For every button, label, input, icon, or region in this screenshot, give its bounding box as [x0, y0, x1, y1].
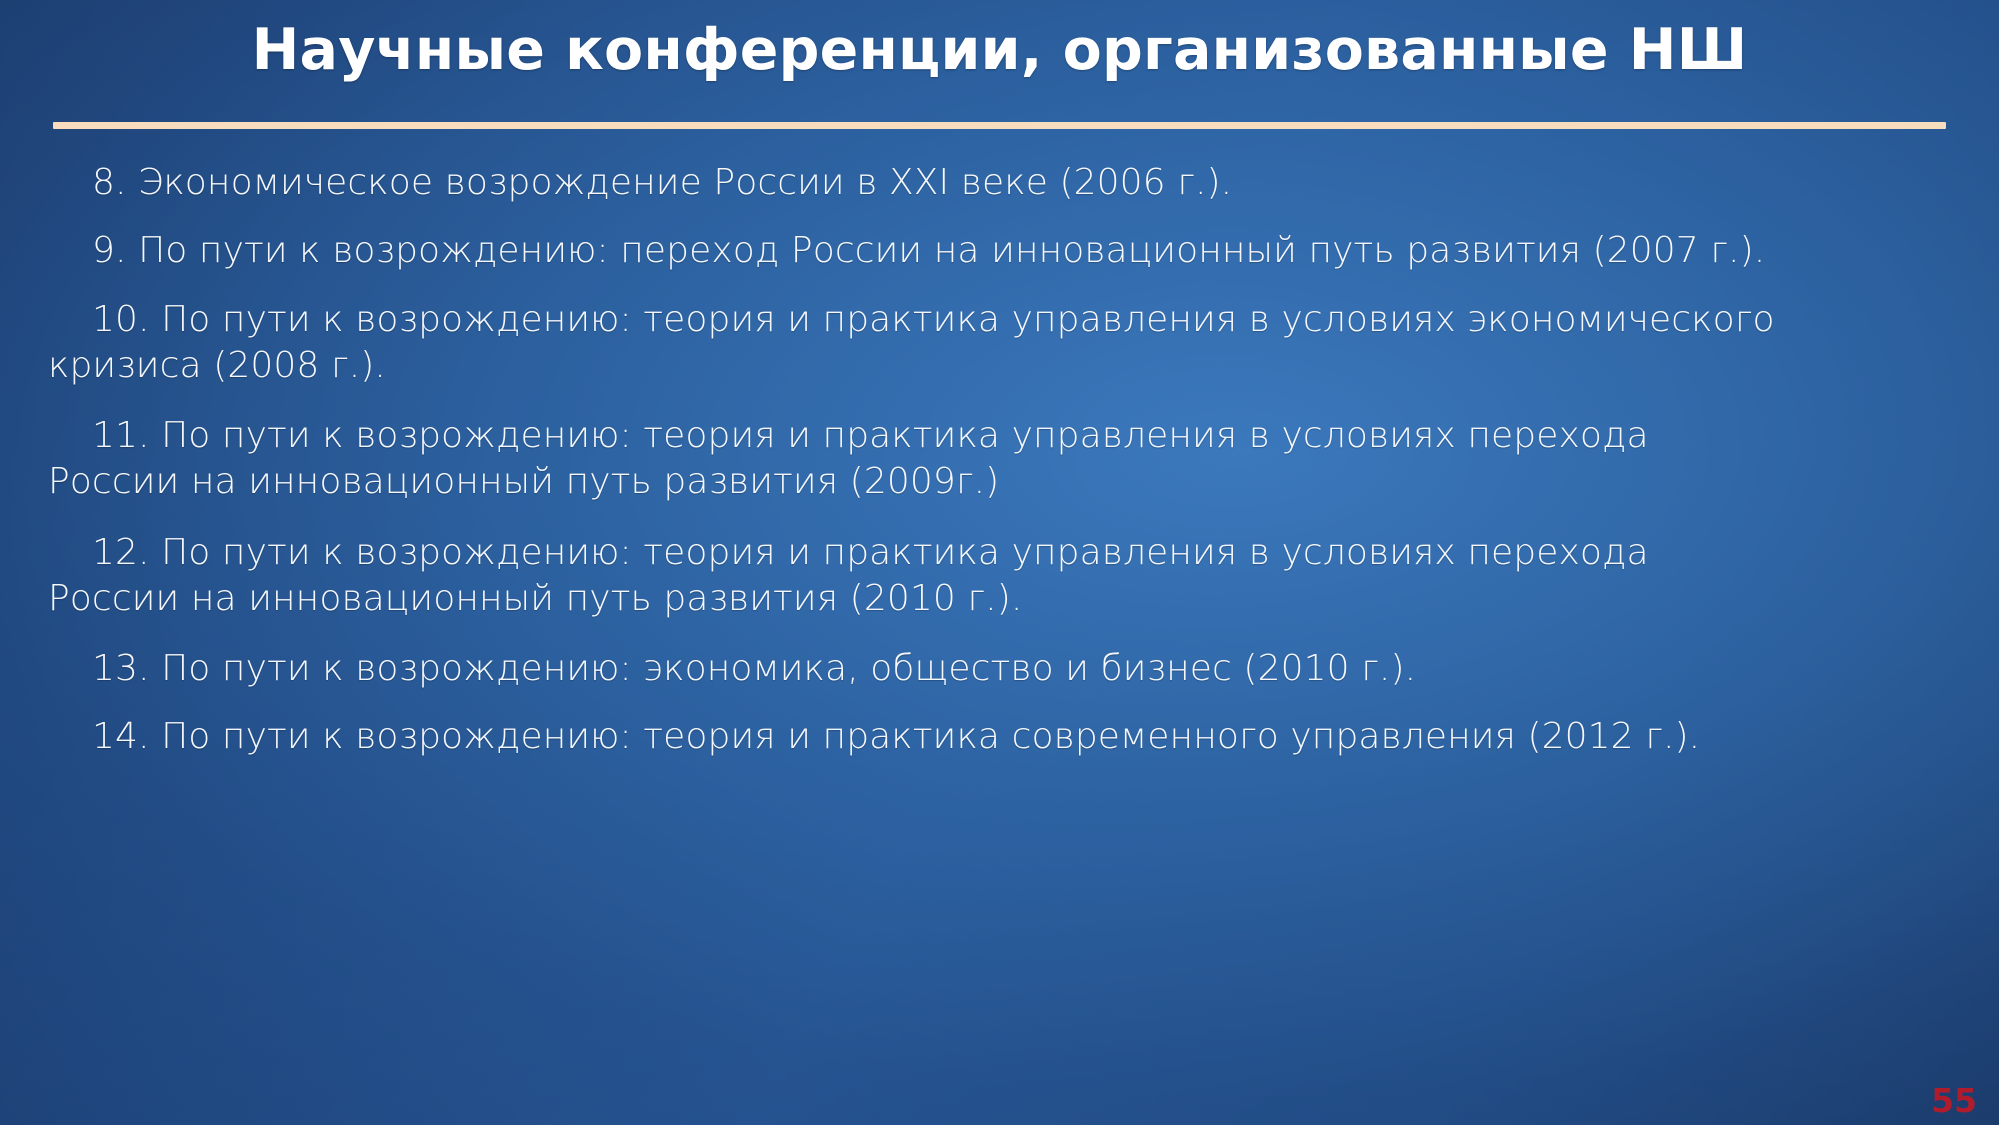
page-title: Научные конференции, организованные НШ: [0, 18, 1999, 84]
slide-body: 8. Экономическое возрождение России в XX…: [48, 160, 1958, 783]
presentation-slide: Научные конференции, организованные НШ 8…: [0, 0, 1999, 1125]
conference-list-item: 9. По пути к возрождению: переход России…: [48, 228, 1958, 274]
conference-list-item: 8. Экономическое возрождение России в XX…: [48, 160, 1958, 206]
slide-page-number: 55: [1931, 1084, 1977, 1117]
conference-list-item: 10. По пути к возрождению: теория и прак…: [48, 297, 1958, 390]
conference-list-item: 14. По пути к возрождению: теория и прак…: [48, 714, 1958, 760]
conference-list-item: 12. По пути к возрождению: теория и прак…: [48, 530, 1958, 623]
slide-title-block: Научные конференции, организованные НШ: [0, 18, 1999, 84]
conference-list-item: 13. По пути к возрождению: экономика, об…: [48, 646, 1958, 692]
title-divider-rule: [53, 122, 1946, 129]
conference-list-item: 11. По пути к возрождению: теория и прак…: [48, 413, 1958, 506]
